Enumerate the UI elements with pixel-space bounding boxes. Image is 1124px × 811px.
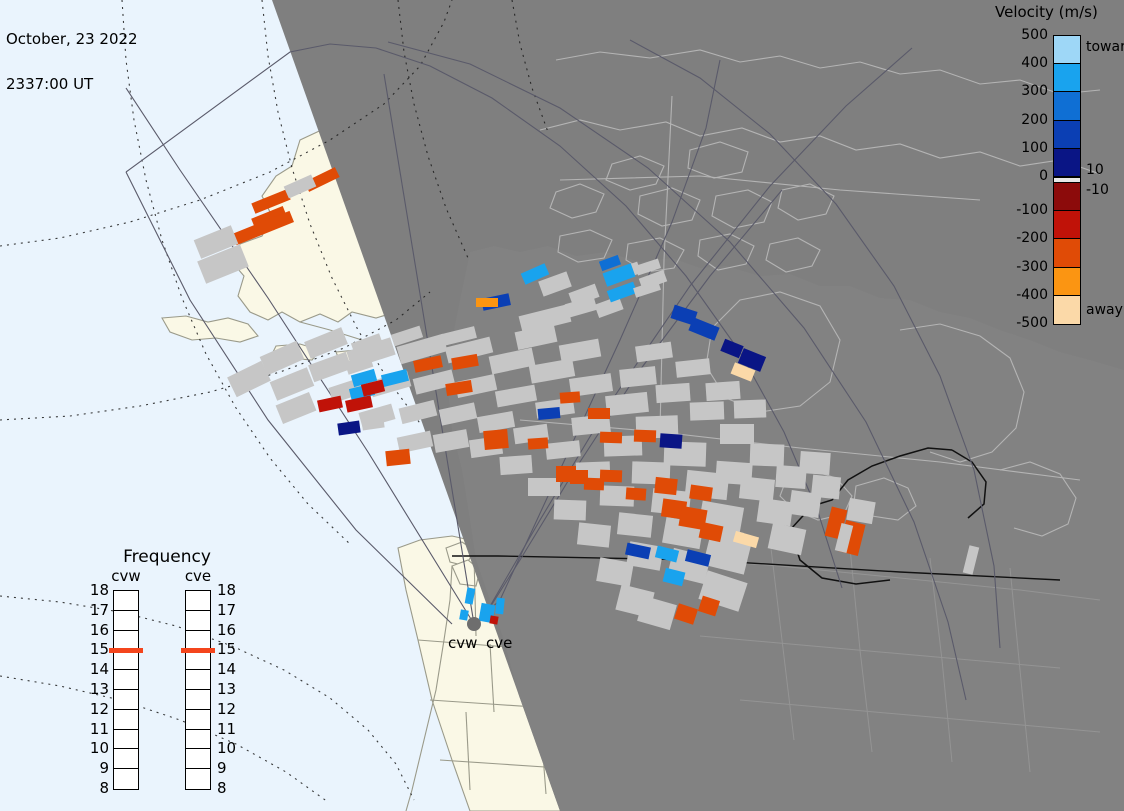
radar-cell xyxy=(617,512,653,537)
colorbar-strip xyxy=(1053,35,1081,325)
frequency-scale-label: 13 xyxy=(217,682,241,697)
frequency-column-header-cve: cve xyxy=(175,567,221,585)
frequency-cell xyxy=(114,730,138,750)
radar-cell xyxy=(846,498,875,524)
radar-cell xyxy=(720,424,754,444)
radar-cell xyxy=(600,470,622,483)
colorbar-tick: -200 xyxy=(990,231,1048,245)
radar-cell xyxy=(690,401,725,420)
frequency-bar-cvw[interactable] xyxy=(113,590,139,790)
velocity-colorbar-panel: Velocity (m/s) 5004003002001000-100-200-… xyxy=(960,0,1124,340)
frequency-scale-label: 9 xyxy=(217,761,241,776)
colorbar-inner-positive-label: 10 xyxy=(1086,163,1104,177)
frequency-scale-label: 13 xyxy=(85,682,109,697)
radar-cell xyxy=(655,383,690,403)
radar-cell xyxy=(739,476,775,501)
frequency-scale-label: 12 xyxy=(85,702,109,717)
radar-cell xyxy=(489,615,498,624)
radar-cell xyxy=(588,408,610,419)
radar-cell xyxy=(554,499,587,520)
colorbar-tick: 0 xyxy=(990,169,1048,183)
colorbar-tick: 200 xyxy=(990,113,1048,127)
frequency-bar-cve[interactable] xyxy=(185,590,211,790)
colorbar-toward-label: toward xyxy=(1086,40,1124,54)
frequency-cell xyxy=(114,749,138,769)
site-label-cve: cve xyxy=(486,634,512,652)
radar-cell xyxy=(483,429,509,450)
radar-cell xyxy=(654,477,678,495)
frequency-cell xyxy=(186,730,210,750)
frequency-cell xyxy=(114,690,138,710)
colorbar-band xyxy=(1054,183,1080,211)
radar-map-stage: October, 23 2022 2337:00 UT Velocity (m/… xyxy=(0,0,1124,811)
frequency-scale-label: 10 xyxy=(85,741,109,756)
frequency-cell xyxy=(114,769,138,789)
colorbar-tick: -300 xyxy=(990,260,1048,274)
frequency-marker-cve xyxy=(181,648,215,653)
radar-cell xyxy=(560,391,581,403)
colorbar-inner-negative-label: -10 xyxy=(1086,183,1109,197)
frequency-scale-label: 8 xyxy=(217,781,241,796)
frequency-marker-cvw xyxy=(109,648,143,653)
colorbar-band xyxy=(1054,36,1080,64)
frequency-scale-label: 8 xyxy=(85,781,109,796)
radar-cell xyxy=(799,451,830,475)
frequency-scale-label: 11 xyxy=(217,722,241,737)
frequency-scale-label: 17 xyxy=(85,603,109,618)
radar-cell xyxy=(528,478,560,496)
radar-cell xyxy=(619,366,657,388)
frequency-cell xyxy=(114,710,138,730)
frequency-cell xyxy=(186,749,210,769)
frequency-cell xyxy=(186,591,210,611)
frequency-cell xyxy=(186,611,210,631)
frequency-cell xyxy=(186,690,210,710)
radar-cell xyxy=(750,443,785,466)
radar-cell xyxy=(660,433,683,449)
colorbar-tick: -100 xyxy=(990,203,1048,217)
colorbar-away-label: away xyxy=(1086,303,1123,317)
radar-cell xyxy=(600,432,622,444)
radar-cell xyxy=(538,407,561,420)
frequency-scale-label: 10 xyxy=(217,741,241,756)
colorbar-tick: 500 xyxy=(990,28,1048,42)
frequency-legend-panel: Frequency cvw cve 1818171716161515141413… xyxy=(85,545,255,790)
date-label: October, 23 2022 xyxy=(6,32,138,47)
radar-cell xyxy=(626,487,647,500)
radar-cell xyxy=(734,399,767,418)
colorbar-band xyxy=(1054,296,1080,324)
colorbar-tick: 300 xyxy=(990,84,1048,98)
frequency-scale-label: 11 xyxy=(85,722,109,737)
frequency-scale-label: 16 xyxy=(217,623,241,638)
frequency-column-header-cvw: cvw xyxy=(103,567,149,585)
frequency-scale-label: 14 xyxy=(85,662,109,677)
radar-cell xyxy=(385,449,410,466)
frequency-cell xyxy=(114,670,138,690)
radar-cell xyxy=(705,381,740,401)
colorbar-tick: 400 xyxy=(990,56,1048,70)
frequency-cell xyxy=(186,769,210,789)
frequency-scale-label: 18 xyxy=(85,583,109,598)
frequency-scale-label: 12 xyxy=(217,702,241,717)
radar-cell xyxy=(495,598,505,615)
colorbar-band xyxy=(1054,92,1080,120)
frequency-cell xyxy=(114,591,138,611)
colorbar-tick: -400 xyxy=(990,288,1048,302)
colorbar-band xyxy=(1054,211,1080,239)
frequency-scale-label: 14 xyxy=(217,662,241,677)
radar-cell xyxy=(459,609,469,620)
frequency-title: Frequency xyxy=(107,547,227,567)
timestamp-block: October, 23 2022 2337:00 UT xyxy=(6,2,138,122)
frequency-cell xyxy=(186,670,210,690)
radar-cell xyxy=(634,430,656,443)
time-label: 2337:00 UT xyxy=(6,77,138,92)
frequency-scale-label: 17 xyxy=(217,603,241,618)
frequency-scale-label: 15 xyxy=(217,642,241,657)
radar-cell xyxy=(756,498,793,526)
frequency-scale-label: 16 xyxy=(85,623,109,638)
radar-site-marker xyxy=(467,617,481,631)
frequency-scale-label: 9 xyxy=(85,761,109,776)
radar-cell xyxy=(577,522,611,547)
colorbar-band xyxy=(1054,239,1080,267)
colorbar-tick: 100 xyxy=(990,141,1048,155)
colorbar-tick: -500 xyxy=(990,316,1048,330)
radar-cell xyxy=(499,455,532,475)
colorbar-band xyxy=(1054,268,1080,296)
colorbar-band xyxy=(1054,64,1080,92)
frequency-cell xyxy=(114,611,138,631)
frequency-scale-label: 15 xyxy=(85,642,109,657)
site-label-cvw: cvw xyxy=(448,634,477,652)
radar-cell xyxy=(528,437,549,449)
radar-cell xyxy=(811,475,841,500)
colorbar-band xyxy=(1054,149,1080,177)
colorbar-band xyxy=(1054,121,1080,149)
frequency-scale-label: 18 xyxy=(217,583,241,598)
frequency-cell xyxy=(186,710,210,730)
colorbar-title: Velocity (m/s) xyxy=(995,3,1098,21)
radar-cell xyxy=(476,298,498,307)
